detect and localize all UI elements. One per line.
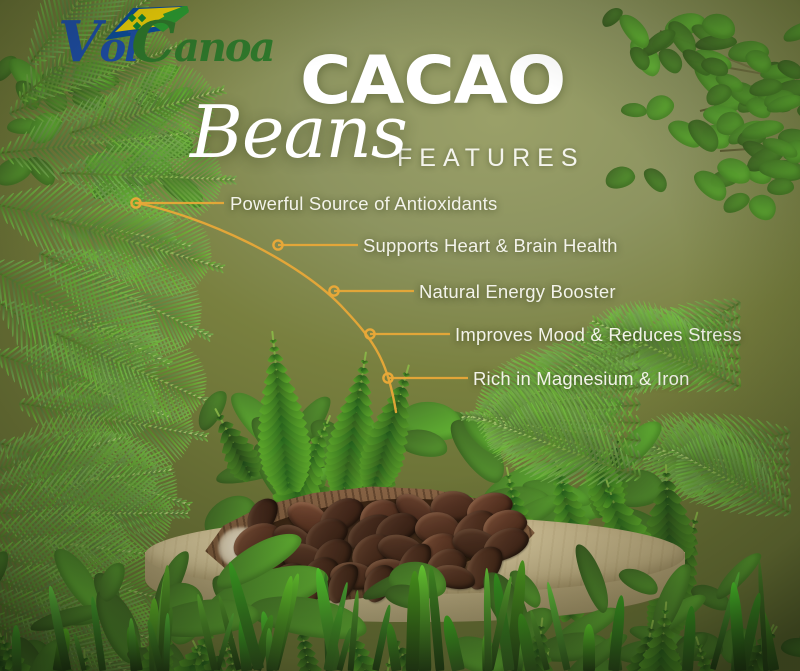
page-subtitle-script: Beans (190, 96, 407, 168)
feature-item-label: Rich in Magnesium & Iron (473, 368, 690, 390)
leaf (795, 568, 800, 626)
leaf (570, 540, 615, 615)
feature-item-label: Improves Mood & Reduces Stress (455, 324, 742, 346)
leaf (0, 548, 12, 587)
brand-logo[interactable]: VolCanoa (58, 14, 274, 70)
feature-item-label: Natural Energy Booster (419, 281, 616, 303)
leaf (616, 563, 662, 599)
logo-text-canoa: Canoa (131, 9, 273, 75)
poster-canvas: VolCanoa CACAO Beans FEATURES Powerful S… (0, 0, 800, 671)
logo-wordmark: VolCanoa (58, 14, 274, 70)
feature-item-label: Supports Heart & Brain Health (363, 235, 618, 257)
section-heading: FEATURES (397, 144, 585, 173)
grass-blade (583, 624, 595, 671)
logo-text-vol: Vol (58, 9, 137, 75)
feature-item-label: Powerful Source of Antioxidants (230, 193, 497, 215)
